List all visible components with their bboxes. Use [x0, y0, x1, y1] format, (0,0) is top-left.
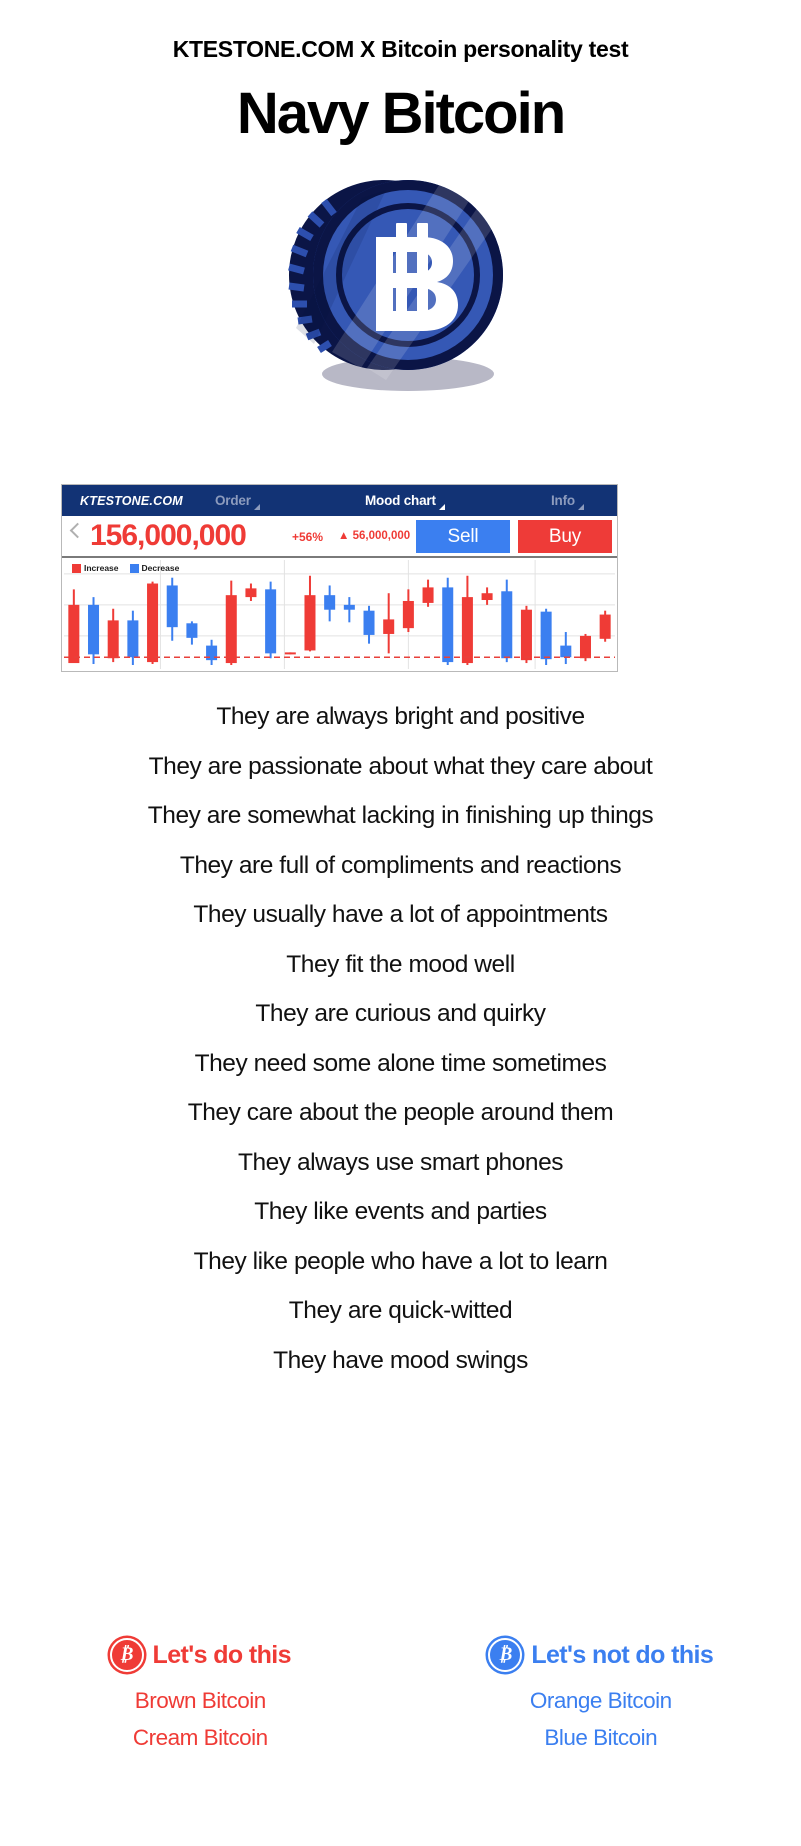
chevron-down-icon: [439, 504, 445, 510]
trait-item: They care about the people around them: [0, 1088, 801, 1138]
compatibility-good-column: ₿ Let's do this Brown Bitcoin Cream Bitc…: [0, 1638, 401, 1756]
bitcoin-coin-icon: [266, 168, 536, 403]
buy-button[interactable]: Buy: [518, 520, 612, 553]
widget-brand: KTESTONE.COM: [80, 494, 183, 508]
trait-item: They are curious and quirky: [0, 989, 801, 1039]
trait-list: They are always bright and positiveThey …: [0, 692, 801, 1385]
mood-candlestick-chart[interactable]: Increase Decrease: [62, 558, 617, 669]
compatibility-good-title: Let's do this: [153, 1641, 291, 1670]
bitcoin-coin-illustration: [0, 168, 801, 403]
bitcoin-badge-red-icon: ₿: [110, 1638, 144, 1672]
trait-item: They are full of compliments and reactio…: [0, 841, 801, 891]
legend-label-decrease: Decrease: [142, 563, 180, 573]
tab-mood-chart-label: Mood chart: [365, 493, 436, 508]
trait-item: They need some alone time sometimes: [0, 1039, 801, 1089]
trait-item: They are passionate about what they care…: [0, 742, 801, 792]
tab-info[interactable]: Info: [551, 493, 584, 508]
trading-widget: KTESTONE.COM Order Mood chart Info 156,0…: [61, 484, 618, 672]
bitcoin-badge-blue-icon: ₿: [488, 1638, 522, 1672]
page-kicker: KTESTONE.COM X Bitcoin personality test: [0, 36, 801, 63]
legend-item-decrease: Decrease: [130, 563, 180, 573]
widget-header: KTESTONE.COM Order Mood chart Info: [62, 485, 617, 516]
compatibility-bad-column: ₿ Let's not do this Orange Bitcoin Blue …: [401, 1638, 801, 1756]
legend-swatch-decrease-icon: [130, 564, 139, 573]
trait-item: They are somewhat lacking in finishing u…: [0, 791, 801, 841]
price-row: 156,000,000 +56% ▲ 56,000,000 Sell Buy: [62, 516, 617, 558]
candlestick-plot: [62, 558, 617, 669]
compatibility-good-heading: ₿ Let's do this: [0, 1638, 401, 1672]
trait-item: They fit the mood well: [0, 940, 801, 990]
compatibility-footer: ₿ Let's do this Brown Bitcoin Cream Bitc…: [0, 1638, 801, 1756]
compatibility-bad-item: Orange Bitcoin: [401, 1682, 801, 1719]
legend-swatch-increase-icon: [72, 564, 81, 573]
tab-order[interactable]: Order: [215, 493, 260, 508]
compatibility-bad-item: Blue Bitcoin: [401, 1719, 801, 1756]
trait-item: They are always bright and positive: [0, 692, 801, 742]
page-title: Navy Bitcoin: [0, 80, 801, 147]
bitcoin-badge-red-symbol: ₿: [120, 1644, 134, 1666]
chevron-down-icon: [254, 504, 260, 510]
trait-item: They always use smart phones: [0, 1138, 801, 1188]
chevron-down-icon: [578, 504, 584, 510]
compatibility-bad-heading: ₿ Let's not do this: [401, 1638, 801, 1672]
legend-label-increase: Increase: [84, 563, 119, 573]
tab-mood-chart[interactable]: Mood chart: [365, 493, 445, 508]
price-value: 156,000,000: [90, 519, 246, 553]
compatibility-good-item: Brown Bitcoin: [0, 1682, 401, 1719]
legend-item-increase: Increase: [72, 563, 119, 573]
chart-legend: Increase Decrease: [72, 563, 179, 573]
trait-item: They are quick-witted: [0, 1286, 801, 1336]
compatibility-good-item: Cream Bitcoin: [0, 1719, 401, 1756]
tab-info-label: Info: [551, 493, 575, 508]
trait-item: They usually have a lot of appointments: [0, 890, 801, 940]
price-percent: +56%: [292, 530, 323, 544]
tab-order-label: Order: [215, 493, 251, 508]
price-delta-value: 56,000,000: [353, 530, 411, 542]
compatibility-bad-title: Let's not do this: [531, 1641, 713, 1670]
price-delta: ▲ 56,000,000: [338, 530, 410, 542]
chevron-left-icon[interactable]: [70, 523, 86, 539]
trait-item: They like people who have a lot to learn: [0, 1237, 801, 1287]
trait-item: They like events and parties: [0, 1187, 801, 1237]
price-delta-arrow: ▲: [338, 530, 349, 542]
sell-button[interactable]: Sell: [416, 520, 510, 553]
bitcoin-badge-blue-symbol: ₿: [498, 1644, 512, 1666]
trait-item: They have mood swings: [0, 1336, 801, 1386]
